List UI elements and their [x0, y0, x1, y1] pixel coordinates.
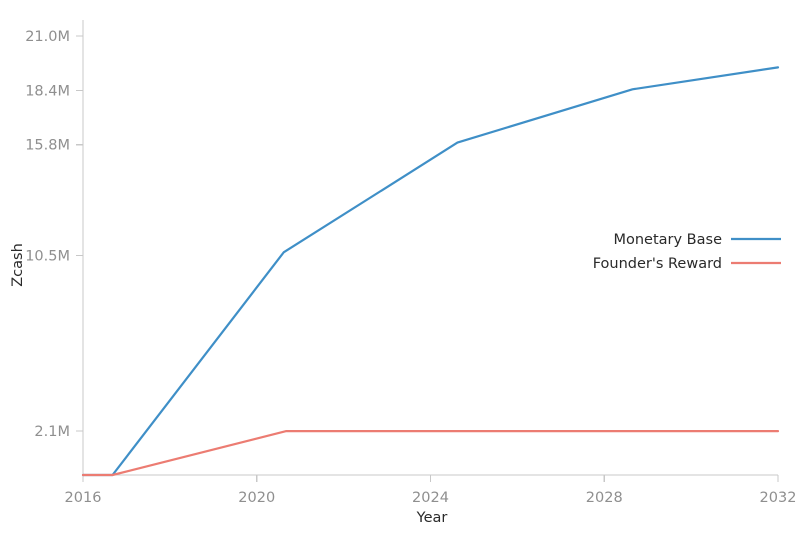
y-axis-title: Zcash [10, 243, 26, 287]
x-axis-ticks: 20162020202420282032 [65, 475, 797, 506]
x-tick-label: 2020 [238, 490, 275, 506]
x-tick-label: 2028 [586, 490, 623, 506]
legend-label[interactable]: Founder's Reward [593, 256, 722, 272]
series-line-founder-s-reward [83, 431, 778, 475]
y-tick-label: 10.5M [25, 249, 70, 265]
y-tick-label: 18.4M [25, 83, 70, 99]
y-tick-label: 15.8M [25, 138, 70, 154]
y-tick-label: 21.0M [25, 29, 70, 45]
y-tick-label: 2.1M [34, 424, 70, 440]
x-tick-label: 2016 [65, 490, 102, 506]
chart-container: 2.1M10.5M15.8M18.4M21.0M 201620202024202… [0, 0, 800, 533]
x-tick-label: 2024 [412, 490, 449, 506]
legend-label[interactable]: Monetary Base [613, 232, 722, 248]
chart-legend[interactable]: Monetary BaseFounder's Reward [593, 232, 781, 272]
x-axis-title: Year [416, 510, 448, 526]
y-axis-ticks: 2.1M10.5M15.8M18.4M21.0M [25, 29, 83, 440]
x-tick-label: 2032 [760, 490, 797, 506]
line-chart: 2.1M10.5M15.8M18.4M21.0M 201620202024202… [0, 0, 800, 533]
